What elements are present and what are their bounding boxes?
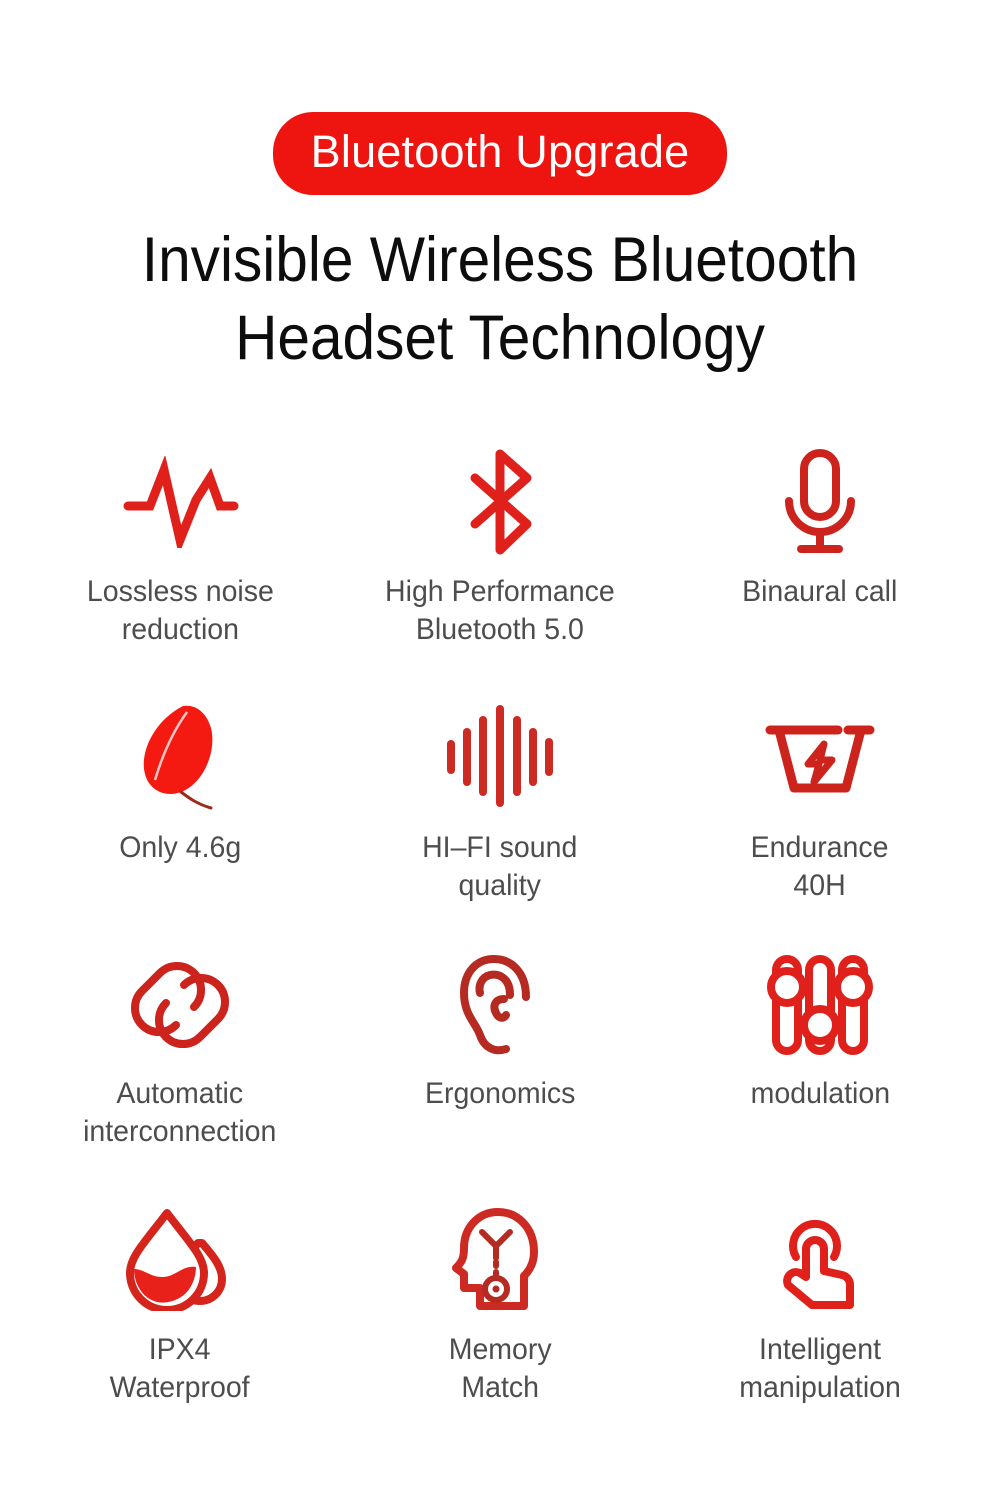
feature-caption-line-1: modulation: [750, 1075, 889, 1113]
slider-equalizer-icon: [764, 947, 876, 1063]
feature-caption: High Performance Bluetooth 5.0: [385, 573, 615, 649]
page-title-line-1: Invisible Wireless Bluetooth: [63, 221, 937, 299]
feature-item: Intelligent manipulation: [660, 1199, 980, 1451]
feature-caption-line-1: Binaural call: [742, 573, 897, 611]
feature-caption-line-2: quality: [422, 867, 577, 905]
bluetooth-icon: [455, 443, 545, 561]
feature-caption-line-2: interconnection: [83, 1113, 276, 1151]
feature-caption: Lossless noise reduction: [87, 573, 274, 649]
feature-grid: Lossless noise reduction High Performanc…: [20, 443, 980, 1451]
feature-caption-line-2: 40H: [751, 867, 889, 905]
feature-item: High Performance Bluetooth 5.0: [340, 443, 660, 695]
feature-caption-line-1: Intelligent: [739, 1331, 901, 1369]
feature-caption: modulation: [750, 1075, 889, 1113]
feature-caption-line-1: Endurance: [751, 829, 889, 867]
water-drops-icon: [120, 1199, 240, 1319]
feature-caption: HI–FI sound quality: [422, 829, 577, 905]
page-title-line-2: Headset Technology: [63, 299, 937, 377]
bluetooth-upgrade-badge: Bluetooth Upgrade: [273, 112, 728, 195]
feature-caption: Only 4.6g: [119, 829, 241, 867]
feature-caption: Memory Match: [449, 1331, 552, 1407]
feature-item: IPX4 Waterproof: [20, 1199, 340, 1451]
feather-icon: [125, 695, 235, 817]
feature-caption: Endurance 40H: [751, 829, 889, 905]
feature-caption-line-2: Bluetooth 5.0: [385, 611, 615, 649]
feature-caption: Automatic interconnection: [83, 1075, 276, 1151]
feature-caption-line-1: Only 4.6g: [119, 829, 241, 867]
feature-caption-line-2: reduction: [87, 611, 274, 649]
feature-caption-line-2: Waterproof: [110, 1369, 250, 1407]
page-title: Invisible Wireless Bluetooth Headset Tec…: [63, 221, 937, 377]
sound-bars-icon: [441, 695, 559, 817]
microphone-icon: [773, 443, 867, 561]
feature-item: modulation: [660, 947, 980, 1199]
ear-icon: [454, 947, 546, 1063]
touch-hand-icon: [772, 1199, 868, 1319]
feature-caption-line-2: manipulation: [739, 1369, 901, 1407]
feature-caption-line-1: Lossless noise: [87, 573, 274, 611]
feature-item: Binaural call: [660, 443, 980, 695]
product-feature-infographic: Bluetooth Upgrade Invisible Wireless Blu…: [0, 0, 1000, 1509]
feature-caption-line-1: Ergonomics: [425, 1075, 575, 1113]
head-memory-icon: [450, 1199, 550, 1319]
feature-item: Ergonomics: [340, 947, 660, 1199]
feature-caption-line-1: High Performance: [385, 573, 615, 611]
feature-caption-line-1: IPX4: [110, 1331, 250, 1369]
feature-item: HI–FI sound quality: [340, 695, 660, 947]
battery-bolt-icon: [764, 695, 876, 817]
badge-container: Bluetooth Upgrade: [0, 112, 1000, 195]
feature-item: Automatic interconnection: [20, 947, 340, 1199]
feature-caption: Binaural call: [742, 573, 897, 611]
feature-caption: IPX4 Waterproof: [110, 1331, 250, 1407]
feature-caption: Ergonomics: [425, 1075, 575, 1113]
feature-caption-line-1: Memory: [449, 1331, 552, 1369]
chain-link-icon: [122, 947, 238, 1063]
feature-caption-line-1: HI–FI sound: [422, 829, 577, 867]
feature-caption-line-2: Match: [449, 1369, 552, 1407]
feature-caption: Intelligent manipulation: [739, 1331, 901, 1407]
waveform-icon: [120, 443, 240, 561]
feature-item: Memory Match: [340, 1199, 660, 1451]
feature-item: Lossless noise reduction: [20, 443, 340, 695]
feature-caption-line-1: Automatic: [83, 1075, 276, 1113]
feature-item: Endurance 40H: [660, 695, 980, 947]
feature-item: Only 4.6g: [20, 695, 340, 947]
